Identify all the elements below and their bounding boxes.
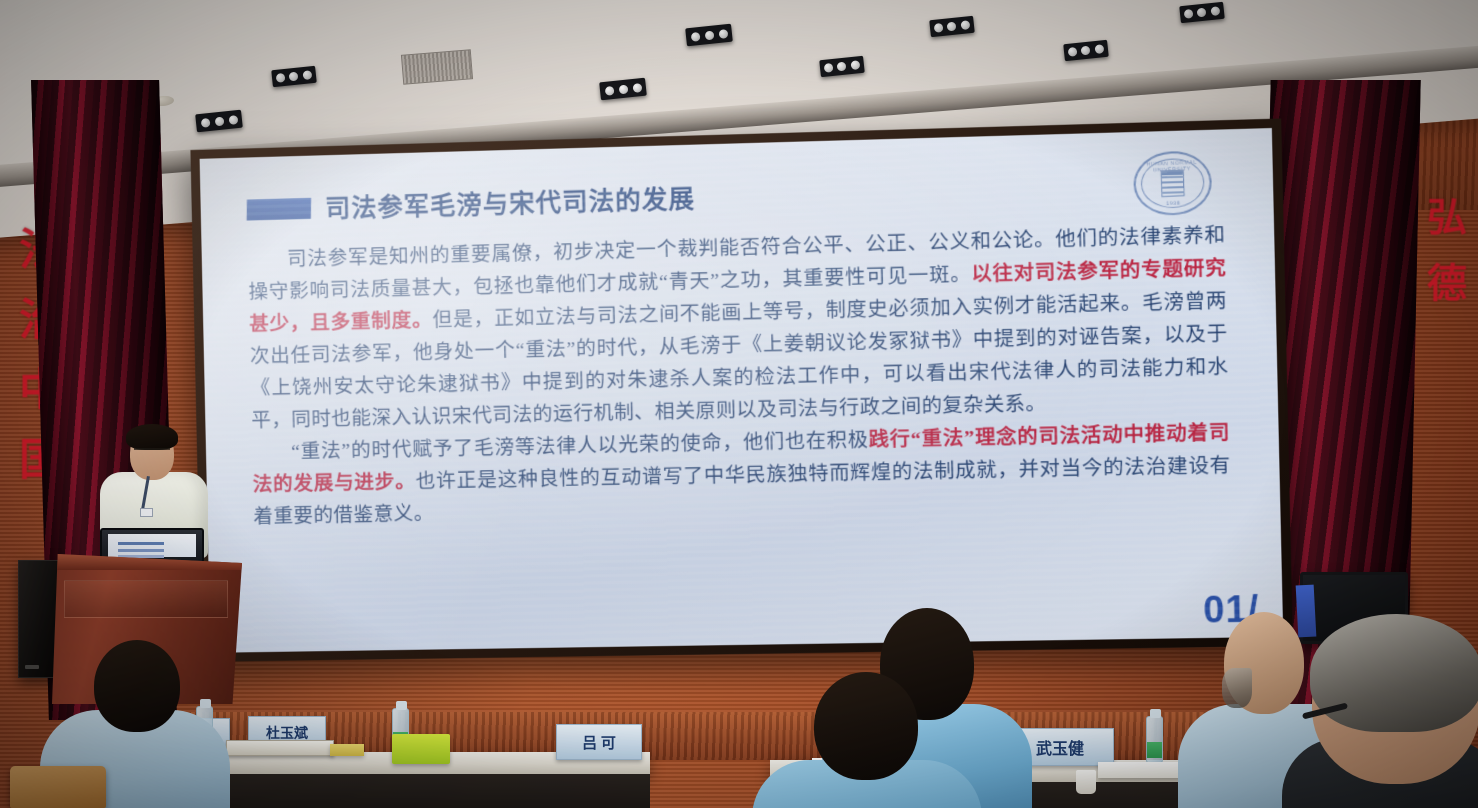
bottle-label: [1147, 742, 1162, 758]
ceiling-air-vent-mid: [401, 49, 473, 85]
wall-calligraphy-right: 弘德: [1414, 196, 1472, 328]
audience-4-hair-fringe: [1222, 668, 1252, 708]
audience-5: [1292, 604, 1478, 808]
slide-content: 司法参军毛滂与宋代司法的发展 司法参军是知州的重要属僚，初步决定一个裁判能否符合…: [200, 128, 1284, 653]
slide-title-row: 司法参军毛滂与宋代司法的发展: [246, 164, 1231, 227]
led-screen-frame: HUNAN NORMAL UNIVERSITY 1938 司法参军毛滂与宋代司法…: [190, 118, 1293, 662]
audience-1-head: [94, 640, 180, 732]
text-run: “重法”的时代赋予了毛滂等法律人以光荣的使命，他们也在积极: [291, 430, 869, 463]
bottle-cap: [396, 701, 407, 710]
audience-3: [752, 672, 982, 808]
podium-front-panel: [64, 580, 228, 618]
papers-on-table-left: [330, 744, 364, 756]
audience-3-head: [814, 672, 918, 780]
slide-title: 司法参军毛滂与宋代司法的发展: [325, 179, 696, 225]
conference-hall-photo: 法治中国 弘德 HUNAN NORMAL UNIVERSITY 1938 司法参…: [0, 0, 1478, 808]
slide-body-text: 司法参军是知州的重要属僚，初步决定一个裁判能否符合公平、公正、公义和公论。他们的…: [248, 220, 1239, 534]
book-stack: [226, 740, 334, 756]
laptop-screen: [108, 534, 196, 557]
papers-on-table-right: [1098, 762, 1190, 778]
tissue-box: [392, 734, 450, 764]
slide-paragraph-2: “重法”的时代赋予了毛滂等法律人以光荣的使命，他们也在积极践行“重法”理念的司法…: [252, 417, 1232, 534]
presenter-badge: [140, 508, 153, 517]
water-bottle-3: [1146, 716, 1163, 764]
audience-chair-1: [10, 766, 106, 808]
nameplate-text: 吕 可: [582, 732, 616, 753]
presentation-screen: HUNAN NORMAL UNIVERSITY 1938 司法参军毛滂与宋代司法…: [200, 128, 1284, 653]
audience-5-hair: [1310, 614, 1478, 732]
nameplate-3: 吕 可: [556, 724, 642, 760]
nameplate-text: 武玉健: [1036, 735, 1084, 759]
bottle-cap: [1150, 709, 1161, 718]
title-accent-bar: [247, 197, 312, 220]
presenter-hair: [126, 424, 178, 450]
presenter-glasses: [134, 448, 170, 455]
paper-cup: [1076, 770, 1096, 794]
slide-paragraph-1: 司法参军是知州的重要属僚，初步决定一个裁判能否符合公平、公正、公义和公论。他们的…: [248, 220, 1230, 438]
